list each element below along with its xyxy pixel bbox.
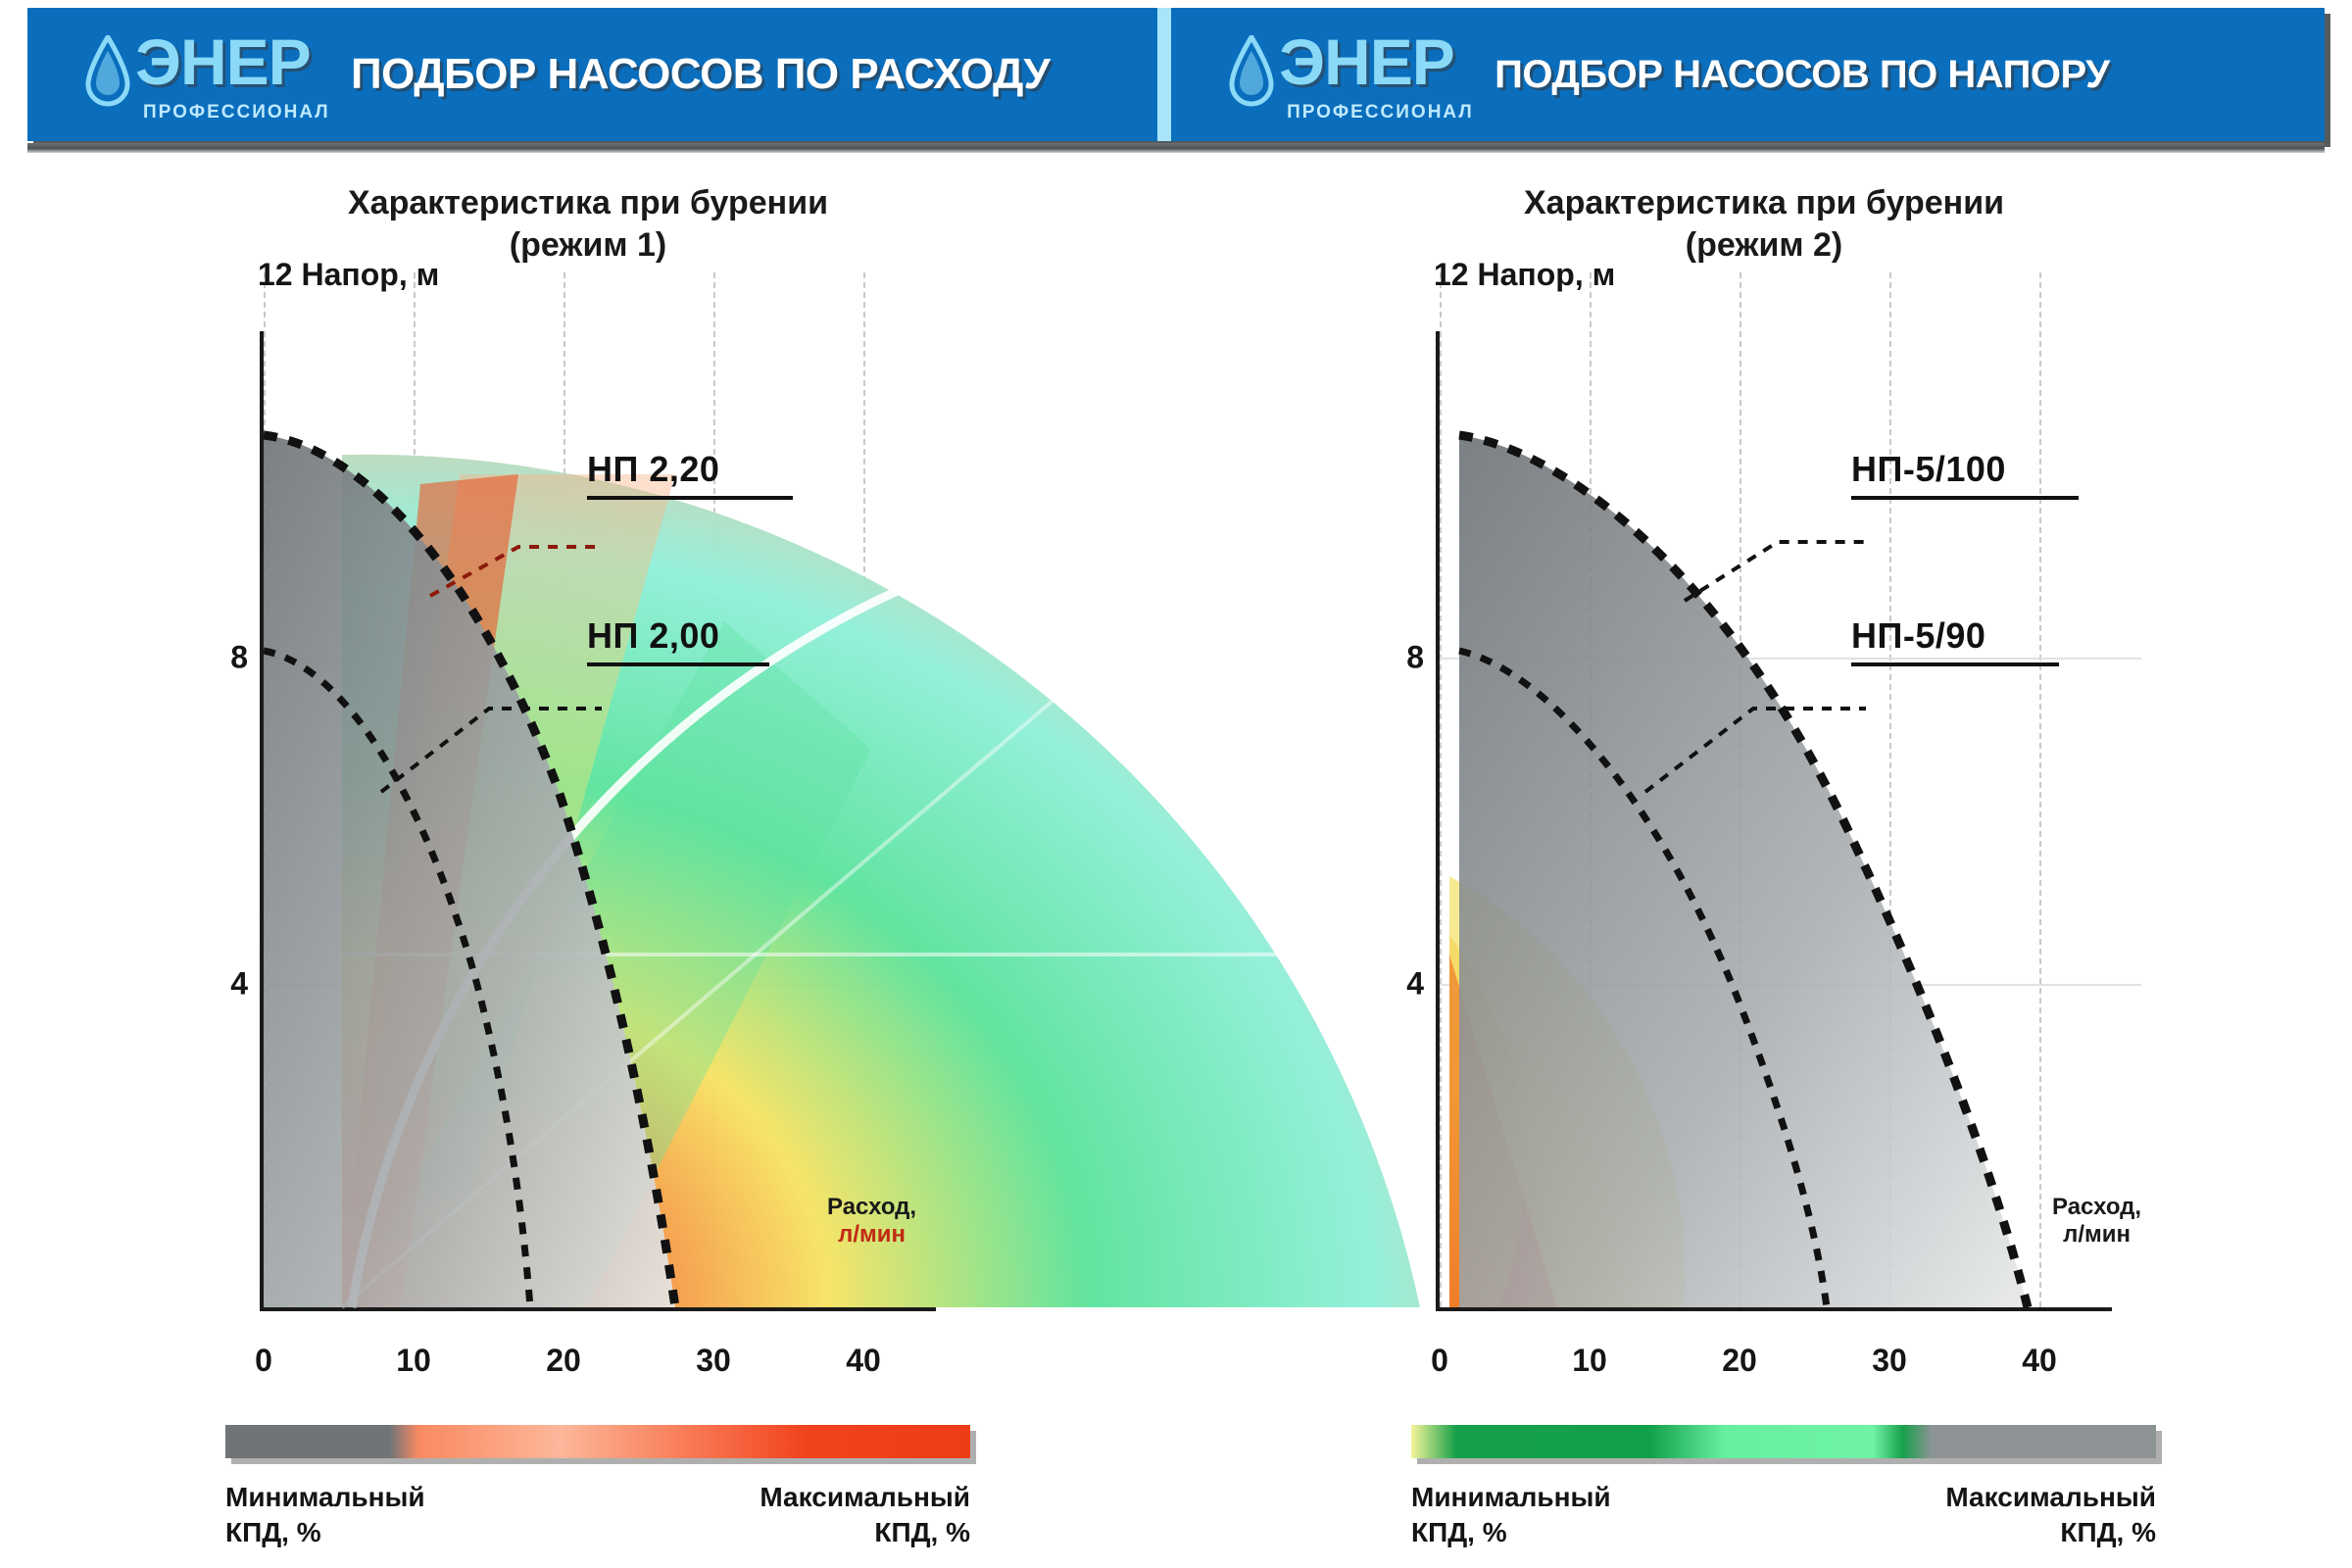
callout-left-1: НП 2,00 (587, 615, 769, 666)
leader-line-left-0 (430, 503, 607, 601)
y-tick-8-right: 8 (1406, 640, 1424, 676)
x-tick-10-left: 10 (396, 1343, 431, 1379)
x-axis-label-left-line1: Расход, (827, 1194, 916, 1220)
header-left-title: ПОДБОР НАСОСОВ ПО РАСХОДУ (351, 52, 1050, 97)
callout-left-0: НП 2,20 (587, 449, 793, 500)
callout-left-1-underline (587, 662, 769, 666)
leader-line-left-1 (381, 669, 607, 797)
header-left-block: ЭНЕР ПРОФЕССИОНАЛ ПОДБОР НАСОСОВ ПО РАСХ… (27, 8, 1157, 141)
logo-wordmark-secondary: ЭНЕР (1279, 29, 1454, 94)
y-tick-4-left: 4 (230, 966, 248, 1003)
plot-left: НП 2,20 НП 2,00 12 Напор, м 8 4 (260, 331, 936, 1311)
legend-right-max-line2: КПД, % (1945, 1515, 2156, 1550)
legend-right-min-line2: КПД, % (1411, 1515, 1611, 1550)
logo-tagline-secondary: ПРОФЕССИОНАЛ (1287, 102, 1474, 123)
header-right-title: ПОДБОР НАСОСОВ ПО НАПОРУ (1494, 54, 2109, 95)
legend-right-max: Максимальный КПД, % (1945, 1480, 2156, 1551)
header-right-block: ЭНЕР ПРОФЕССИОНАЛ ПОДБОР НАСОСОВ ПО НАПО… (1157, 8, 2325, 141)
legend-left-min-line2: КПД, % (225, 1515, 425, 1550)
logo-tagline: ПРОФЕССИОНАЛ (143, 102, 330, 123)
callout-left-1-label: НП 2,00 (587, 615, 769, 657)
x-axis-label-left: Расход, л/мин (827, 1194, 916, 1248)
chart-panel-right: Характеристика при бурении (режим 2) (1176, 174, 2352, 1390)
water-drop-icon (1228, 35, 1275, 112)
logo-wordmark: ЭНЕР (135, 29, 311, 94)
y-tick-4-right: 4 (1406, 966, 1424, 1003)
water-drop-icon (84, 35, 131, 112)
x-axis-label-left-unit: л/мин (838, 1221, 906, 1248)
legend-left-max-line2: КПД, % (759, 1515, 970, 1550)
chart-title-left-line2: (режим 1) (510, 226, 666, 264)
y-tick-8-left: 8 (230, 640, 248, 676)
chart-title-right-line1: Характеристика при бурении (1524, 184, 2004, 221)
callout-left-0-underline (587, 496, 793, 500)
plot-right: НП-5/100 НП-5/90 12 Напор, м 8 4 0 10 (1436, 331, 2112, 1311)
legend-left-max-line1: Максимальный (759, 1482, 970, 1512)
legend-left: Минимальный КПД, % Максимальный КПД, % (225, 1403, 970, 1568)
x-tick-0-right: 0 (1431, 1343, 1448, 1379)
x-tick-40-right: 40 (2022, 1343, 2057, 1379)
x-tick-40-left: 40 (846, 1343, 881, 1379)
header-banner: ЭНЕР ПРОФЕССИОНАЛ ПОДБОР НАСОСОВ ПО РАСХ… (27, 8, 2325, 141)
callout-right-1: НП-5/90 (1851, 615, 2059, 666)
callout-right-1-underline (1851, 662, 2059, 666)
legend-gradient-bar-left (225, 1425, 970, 1458)
chart-title-right-line2: (режим 2) (1686, 226, 1842, 264)
header-divider (27, 143, 2325, 153)
x-axis-label-right-line1: Расход, (2052, 1194, 2141, 1220)
chart-panel-left: Характеристика при бурении (режим 1) (0, 174, 1176, 1390)
callout-right-1-label: НП-5/90 (1851, 615, 2059, 657)
chart-title-left-line1: Характеристика при бурении (348, 184, 828, 221)
legend-right-min: Минимальный КПД, % (1411, 1480, 1611, 1551)
charts-container: Характеристика при бурении (режим 1) (0, 174, 2352, 1390)
x-tick-10-right: 10 (1572, 1343, 1607, 1379)
legend-right-min-line1: Минимальный (1411, 1482, 1611, 1512)
legend-left-min-line1: Минимальный (225, 1482, 425, 1512)
chart-title-left: Характеристика при бурении (режим 1) (59, 182, 1117, 266)
callout-left-0-label: НП 2,20 (587, 449, 793, 490)
legend-right-max-line1: Максимальный (1945, 1482, 2156, 1512)
leader-line-right-0 (1685, 503, 1871, 611)
logo-secondary: ЭНЕР ПРОФЕССИОНАЛ (1171, 8, 1494, 141)
legend-left-min: Минимальный КПД, % (225, 1480, 425, 1551)
legend-left-max: Максимальный КПД, % (759, 1480, 970, 1551)
x-tick-20-right: 20 (1722, 1343, 1757, 1379)
x-tick-30-left: 30 (696, 1343, 731, 1379)
callout-right-0: НП-5/100 (1851, 449, 2079, 500)
y-axis-top-label-right: 12 Напор, м (1434, 257, 1615, 293)
callout-right-0-underline (1851, 496, 2079, 500)
logo: ЭНЕР ПРОФЕССИОНАЛ (27, 8, 351, 141)
legend-right: Минимальный КПД, % Максимальный КПД, % (1411, 1403, 2156, 1568)
chart-title-right: Характеристика при бурении (режим 2) (1235, 182, 2293, 266)
x-tick-0-left: 0 (255, 1343, 272, 1379)
x-tick-30-right: 30 (1872, 1343, 1907, 1379)
y-axis-top-label-left: 12 Напор, м (258, 257, 439, 293)
legends-container: Минимальный КПД, % Максимальный КПД, % М… (0, 1403, 2352, 1568)
x-tick-20-left: 20 (546, 1343, 581, 1379)
legend-gradient-bar-right (1411, 1425, 2156, 1458)
callout-right-0-label: НП-5/100 (1851, 449, 2079, 490)
x-axis-label-right-unit: л/мин (2063, 1221, 2131, 1248)
leader-line-right-1 (1645, 669, 1871, 797)
x-axis-label-right: Расход, л/мин (2052, 1194, 2141, 1248)
